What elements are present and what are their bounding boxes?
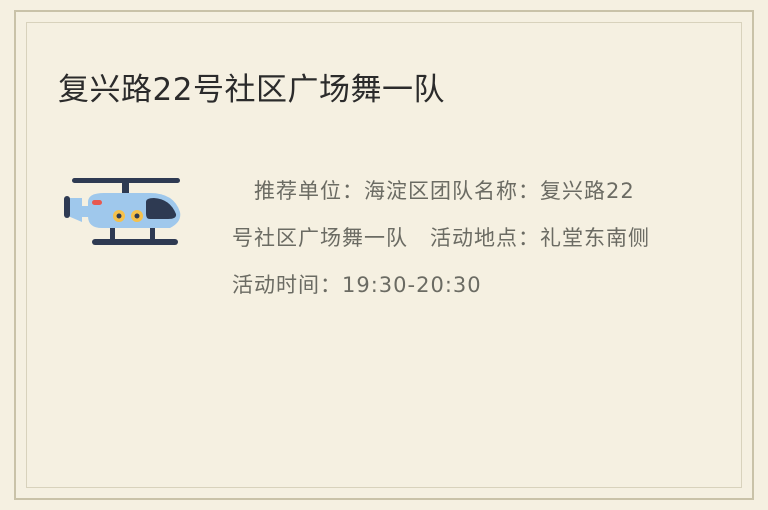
helicopter-illustration [58,160,208,270]
poster-card: 复兴路22号社区广场舞一队 [0,0,768,510]
event-details-text: 推荐单位：海淀区团队名称：复兴路22号社区广场舞一队 活动地点：礼堂东南侧 活动… [232,168,652,309]
page-title: 复兴路22号社区广场舞一队 [58,68,445,112]
